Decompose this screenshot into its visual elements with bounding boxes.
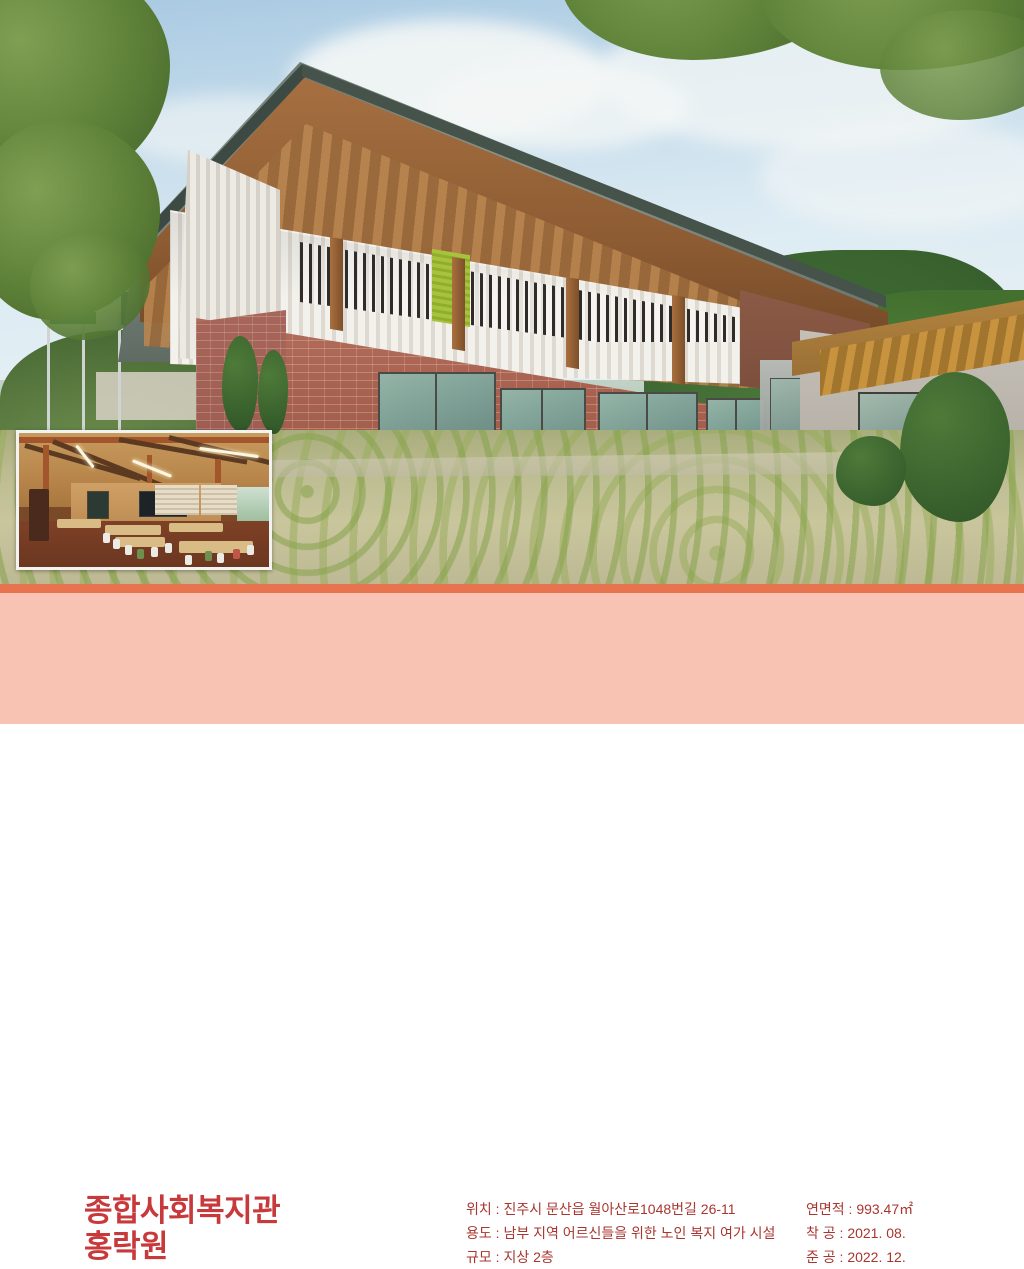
title-line-1: 종합사회복지관 bbox=[84, 1193, 280, 1229]
info-label: 착 공 bbox=[806, 1221, 836, 1245]
timber-column bbox=[672, 295, 685, 385]
info-label: 규모 bbox=[466, 1245, 492, 1269]
timber-column bbox=[566, 277, 579, 369]
inset-table bbox=[179, 541, 253, 553]
info-row: 착 공 : 2021. 08. bbox=[806, 1221, 913, 1245]
shrub bbox=[222, 336, 258, 432]
building-title: 종합사회복지관 홍락원 bbox=[84, 1193, 280, 1265]
inset-door bbox=[87, 491, 109, 519]
inset-blind bbox=[155, 485, 199, 515]
info-value: 2022. 12. bbox=[847, 1249, 905, 1265]
inset-chair bbox=[103, 533, 110, 543]
info-separator: : bbox=[496, 1225, 500, 1241]
info-value: 진주시 문산읍 월아산로1048번길 26-11 bbox=[503, 1201, 735, 1217]
inset-table bbox=[57, 519, 101, 528]
info-row: 용도 : 남부 지역 어르신들을 위한 노인 복지 여가 시설 bbox=[466, 1221, 775, 1245]
info-row: 준 공 : 2022. 12. bbox=[806, 1245, 913, 1269]
info-separator: : bbox=[840, 1249, 844, 1265]
inset-chair bbox=[217, 553, 224, 563]
title-line-2: 홍락원 bbox=[84, 1229, 280, 1265]
info-column-left: 위치 : 진주시 문산읍 월아산로1048번길 26-11 용도 : 남부 지역… bbox=[466, 1197, 775, 1269]
shrub bbox=[900, 372, 1010, 522]
inset-stove bbox=[29, 489, 49, 541]
info-label: 용도 bbox=[466, 1221, 492, 1245]
inset-chair bbox=[165, 543, 172, 553]
inset-chair bbox=[247, 545, 254, 555]
info-value: 지상 2층 bbox=[503, 1249, 553, 1265]
info-value: 2021. 08. bbox=[847, 1225, 905, 1241]
accent-strip bbox=[0, 584, 1024, 593]
inset-chair bbox=[125, 545, 132, 555]
interior-inset-photo bbox=[16, 430, 272, 570]
inset-chair bbox=[205, 551, 212, 561]
info-row: 위치 : 진주시 문산읍 월아산로1048번길 26-11 bbox=[466, 1197, 775, 1221]
info-column-right: 연면적 : 993.47㎡ 착 공 : 2021. 08. 준 공 : 2022… bbox=[806, 1197, 913, 1269]
info-row: 규모 : 지상 2층 bbox=[466, 1245, 775, 1269]
info-label: 준 공 bbox=[806, 1245, 836, 1269]
inset-chair bbox=[151, 547, 158, 557]
inset-chair bbox=[233, 549, 240, 559]
info-value: 남부 지역 어르신들을 위한 노인 복지 여가 시설 bbox=[503, 1225, 775, 1241]
shrub bbox=[836, 436, 906, 506]
shrub bbox=[258, 350, 288, 434]
inset-table bbox=[105, 525, 161, 535]
timber-column bbox=[330, 237, 343, 331]
info-separator: : bbox=[840, 1225, 844, 1241]
inset-chair bbox=[113, 539, 120, 549]
inset-table bbox=[115, 537, 165, 547]
info-label: 연면적 bbox=[806, 1197, 845, 1221]
info-separator: : bbox=[849, 1201, 853, 1217]
info-banner: 종합사회복지관 홍락원 위치 : 진주시 문산읍 월아산로1048번길 26-1… bbox=[0, 593, 1024, 724]
info-label: 위치 bbox=[466, 1197, 492, 1221]
info-separator: : bbox=[496, 1201, 500, 1217]
inset-window bbox=[237, 487, 269, 521]
info-separator: : bbox=[496, 1249, 500, 1265]
inset-chair bbox=[137, 549, 144, 559]
timber-column bbox=[452, 257, 465, 351]
poster-page: 종합사회복지관 홍락원 위치 : 진주시 문산읍 월아산로1048번길 26-1… bbox=[0, 0, 1024, 724]
info-value: 993.47㎡ bbox=[856, 1201, 913, 1217]
info-row: 연면적 : 993.47㎡ bbox=[806, 1197, 913, 1221]
inset-chair bbox=[185, 555, 192, 565]
inset-blind bbox=[201, 485, 237, 515]
inset-table bbox=[169, 523, 223, 532]
